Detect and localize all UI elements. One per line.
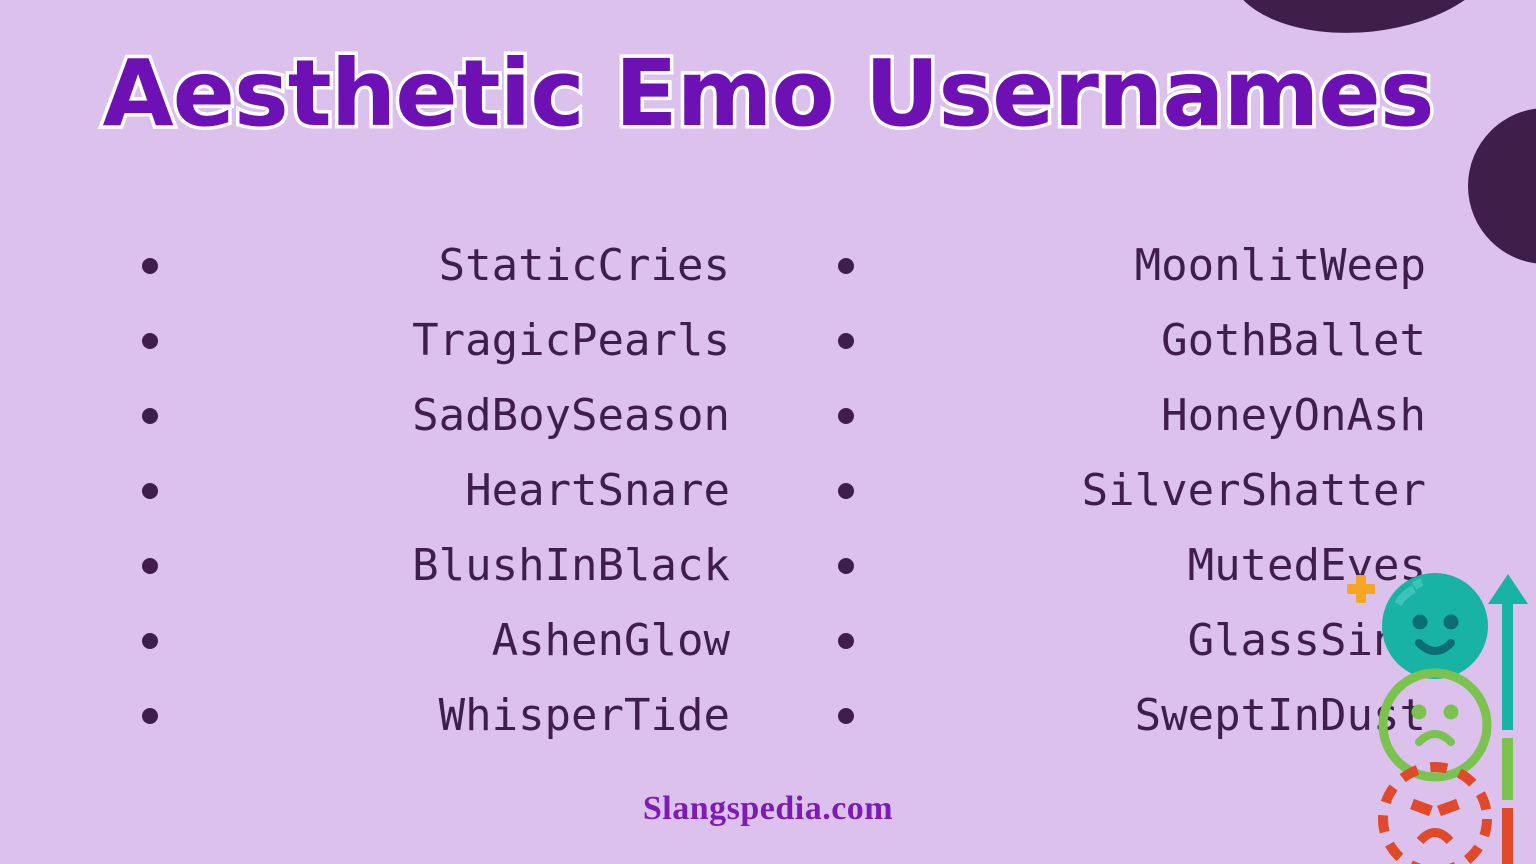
username-lists: StaticCries TragicPearls SadBoySeason He… [0, 228, 1536, 753]
bullet-icon [142, 708, 158, 724]
username-label: HoneyOnAsh [1161, 394, 1426, 438]
list-item: StaticCries [128, 228, 730, 303]
bullet-icon [838, 708, 854, 724]
bullet-icon [142, 483, 158, 499]
username-list-left: StaticCries TragicPearls SadBoySeason He… [0, 228, 768, 753]
bullet-icon [838, 558, 854, 574]
bullet-icon [838, 408, 854, 424]
username-label: HeartSnare [465, 469, 730, 513]
bullet-icon [142, 408, 158, 424]
list-item: GothBallet [824, 303, 1426, 378]
list-item: HoneyOnAsh [824, 378, 1426, 453]
bullet-icon [838, 333, 854, 349]
list-item: WhisperTide [128, 678, 730, 753]
decorative-blob-top [1221, 0, 1507, 46]
list-item: TragicPearls [128, 303, 730, 378]
username-label: AshenGlow [492, 619, 730, 663]
bullet-icon [838, 258, 854, 274]
list-item: HeartSnare [128, 453, 730, 528]
list-item: SilverShatter [824, 453, 1426, 528]
bullet-icon [142, 333, 158, 349]
list-item: MutedEyes [824, 528, 1426, 603]
username-label: StaticCries [439, 244, 730, 288]
page-title: Aesthetic Emo Usernames [0, 48, 1536, 140]
bullet-icon [142, 633, 158, 649]
bullet-icon [838, 483, 854, 499]
list-item: SweptInDust [824, 678, 1426, 753]
list-item: BlushInBlack [128, 528, 730, 603]
username-label: MutedEyes [1188, 544, 1426, 588]
username-label: MoonlitWeep [1135, 244, 1426, 288]
bullet-icon [142, 258, 158, 274]
username-label: GothBallet [1161, 319, 1426, 363]
username-label: TragicPearls [412, 319, 730, 363]
username-label: WhisperTide [439, 694, 730, 738]
username-label: SweptInDust [1135, 694, 1426, 738]
username-label: SadBoySeason [412, 394, 730, 438]
list-item: SadBoySeason [128, 378, 730, 453]
list-item: GlassSinz [824, 603, 1426, 678]
list-item: MoonlitWeep [824, 228, 1426, 303]
bullet-icon [838, 633, 854, 649]
username-label: GlassSinz [1188, 619, 1426, 663]
username-label: SilverShatter [1082, 469, 1426, 513]
poster-canvas: Aesthetic Emo Usernames StaticCries Trag… [0, 0, 1536, 864]
site-watermark: Slangspedia.com [0, 790, 1536, 828]
username-list-right: MoonlitWeep GothBallet HoneyOnAsh Silver… [768, 228, 1536, 753]
list-item: AshenGlow [128, 603, 730, 678]
username-label: BlushInBlack [412, 544, 730, 588]
bullet-icon [142, 558, 158, 574]
